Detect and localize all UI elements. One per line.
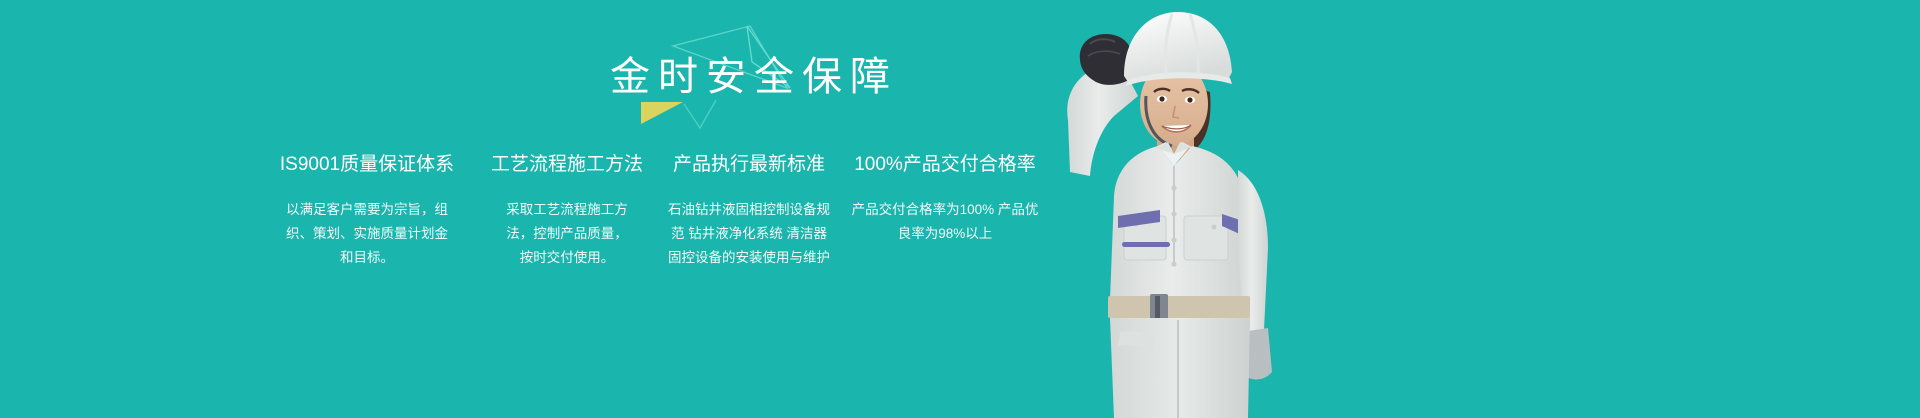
chevron-down-icon <box>684 100 716 128</box>
feature-columns: IS9001质量保证体系 以满足客户需要为宗旨，组织、策划、实施质量计划金和目标… <box>260 152 1080 352</box>
feature-body: 产品交付合格率为100% 产品优良率为98%以上 <box>838 198 1052 246</box>
feature-title: 产品执行最新标准 <box>660 152 838 178</box>
feature-body: 采取工艺流程施工方法，控制产品质量，按时交付使用。 <box>474 198 660 270</box>
feature-title: IS9001质量保证体系 <box>260 152 474 178</box>
worker-accent-zip <box>1122 242 1170 247</box>
worker-hard-hat <box>1124 12 1232 82</box>
worker-belt <box>1108 296 1250 318</box>
page-title: 金时安全保障 <box>602 52 898 102</box>
feature-body: 以满足客户需要为宗旨，组织、策划、实施质量计划金和目标。 <box>260 198 474 270</box>
accent-triangle <box>641 102 683 124</box>
safety-guarantee-banner: 金时安全保障 IS9001质量保证体系 以满足客户需要为宗旨，组织、策划、实施质… <box>0 0 1920 418</box>
feature-body: 石油钻井液固相控制设备规范 钻井液净化系统 清洁器 固控设备的安装使用与维护 <box>660 198 838 270</box>
feature-title: 100%产品交付合格率 <box>838 152 1052 178</box>
feature-column-delivery-rate: 100%产品交付合格率 产品交付合格率为100% 产品优良率为98%以上 <box>838 152 1052 246</box>
worker-pocket-right <box>1184 216 1228 260</box>
feature-column-latest-standard: 产品执行最新标准 石油钻井液固相控制设备规范 钻井液净化系统 清洁器 固控设备的… <box>660 152 838 270</box>
feature-column-quality-system: IS9001质量保证体系 以满足客户需要为宗旨，组织、策划、实施质量计划金和目标… <box>260 152 474 270</box>
feature-title: 工艺流程施工方法 <box>474 152 660 178</box>
feature-column-process-method: 工艺流程施工方法 采取工艺流程施工方法，控制产品质量，按时交付使用。 <box>474 152 660 270</box>
construction-worker-photo <box>1062 0 1362 418</box>
